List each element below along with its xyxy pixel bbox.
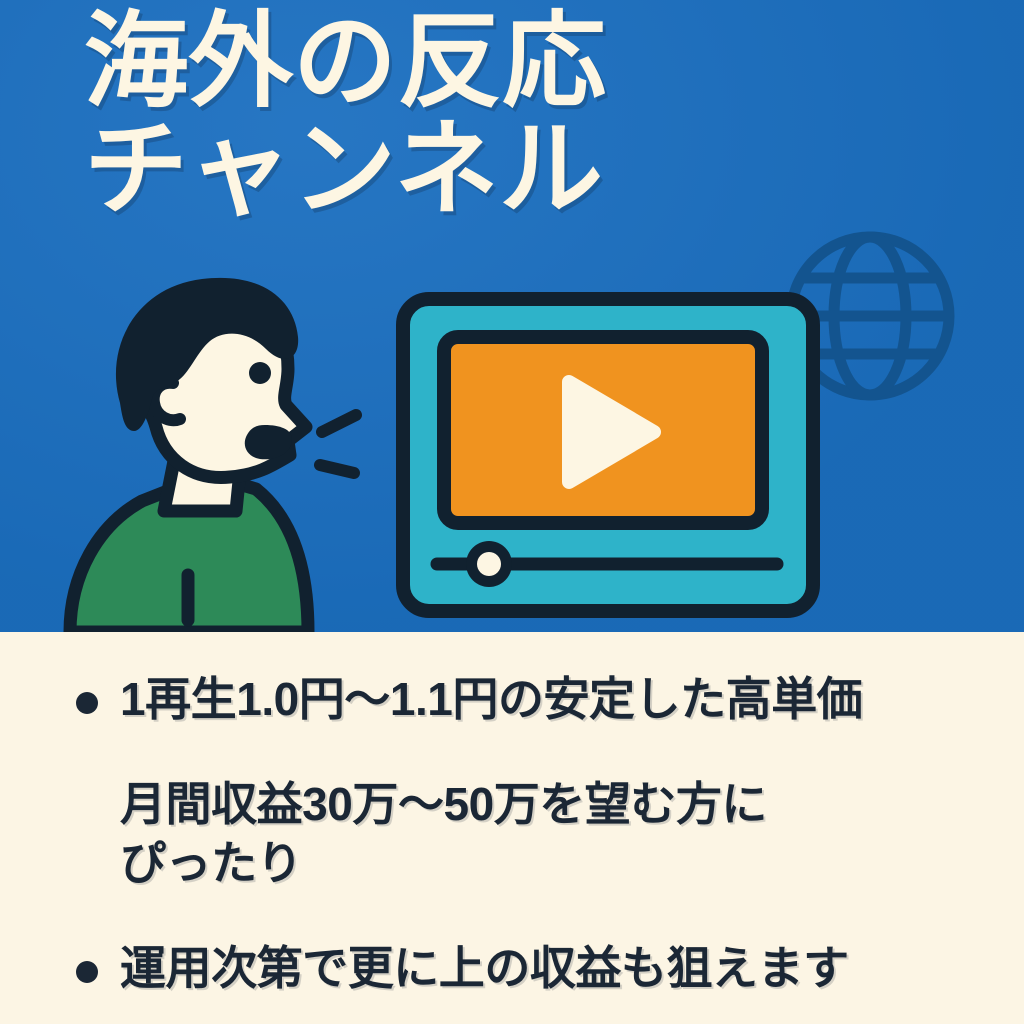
benefits-list: 1再生1.0円〜1.1円の安定した高単価 月間収益30万〜50万を望む方に ぴっ… bbox=[0, 632, 1024, 998]
bullet-dot-icon bbox=[76, 961, 98, 983]
poster-canvas: 海外の反応 チャンネル bbox=[0, 0, 1024, 1024]
page-title: 海外の反応 チャンネル bbox=[84, 8, 964, 224]
list-item-label: 運用次第で更に上の収益も狙えます bbox=[120, 939, 994, 998]
list-item-label: 1再生1.0円〜1.1円の安定した高単価 bbox=[120, 670, 994, 729]
hero-section: 海外の反応 チャンネル bbox=[0, 0, 1024, 632]
speaking-person-illustration bbox=[60, 275, 390, 632]
list-item: 月間収益30万〜50万を望む方に ぴったり bbox=[66, 775, 994, 893]
speech-lines-icon bbox=[320, 415, 356, 473]
video-player-illustration[interactable] bbox=[396, 292, 820, 618]
list-item-label: 月間収益30万〜50万を望む方に ぴったり bbox=[120, 775, 994, 893]
bullet-dot-icon bbox=[76, 692, 98, 714]
list-item: 運用次第で更に上の収益も狙えます bbox=[66, 939, 994, 998]
benefits-panel: 1再生1.0円〜1.1円の安定した高単価 月間収益30万〜50万を望む方に ぴっ… bbox=[0, 632, 1024, 1024]
list-item: 1再生1.0円〜1.1円の安定した高単価 bbox=[66, 670, 994, 729]
